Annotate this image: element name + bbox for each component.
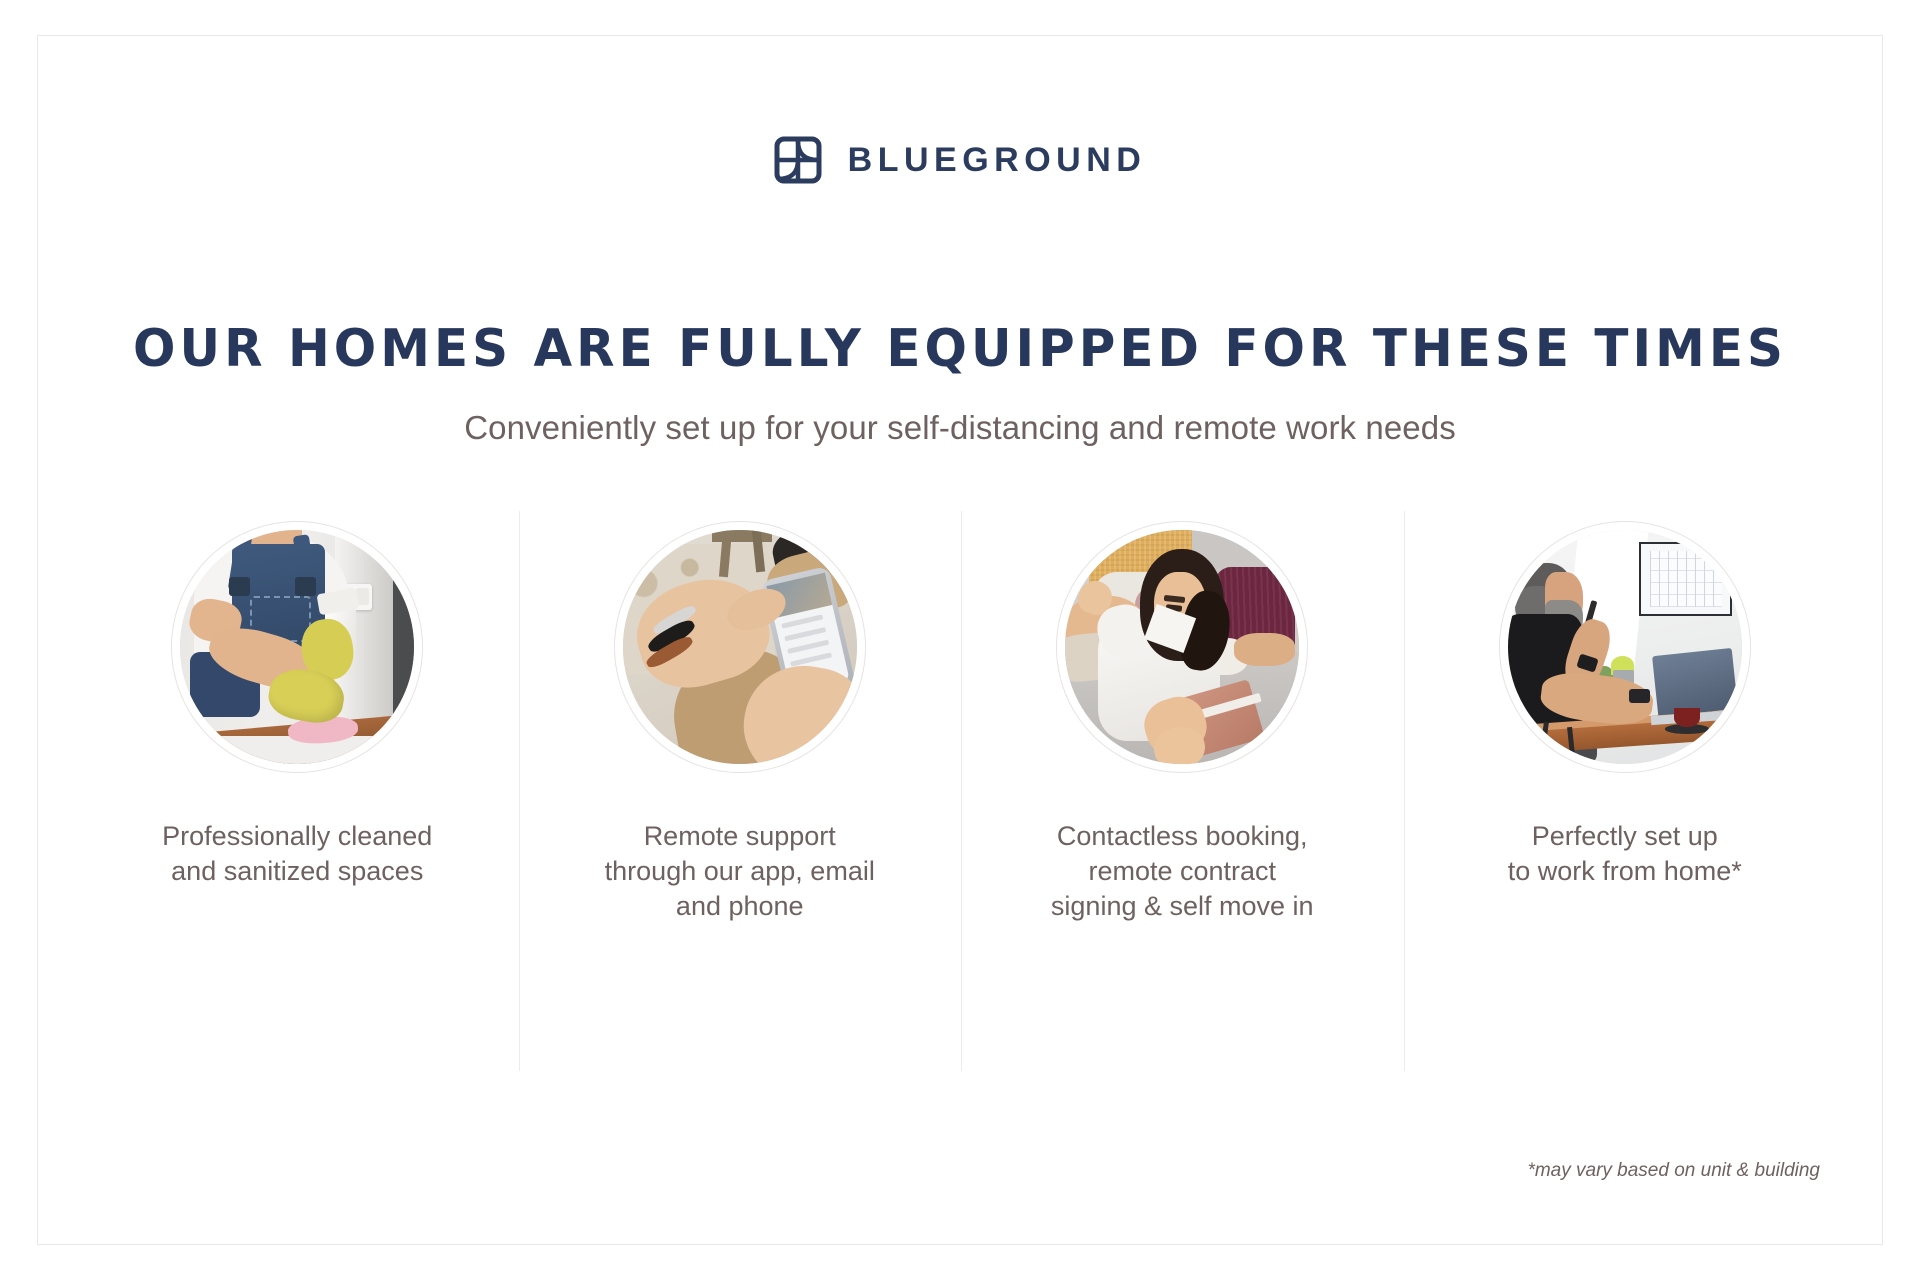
blueground-square-logo-icon bbox=[774, 136, 822, 184]
brand-wordmark: BLUEGROUND bbox=[848, 143, 1147, 177]
photo-ring bbox=[171, 521, 423, 773]
feature-column-cleaning: Professionally cleaned and sanitized spa… bbox=[76, 511, 519, 1071]
feature-column-contactless-booking: Contactless booking, remote contract sig… bbox=[961, 511, 1404, 1071]
page-title: OUR HOMES ARE FULLY EQUIPPED FOR THESE T… bbox=[75, 319, 1845, 379]
feature-caption: Contactless booking, remote contract sig… bbox=[1051, 819, 1314, 923]
feature-columns: Professionally cleaned and sanitized spa… bbox=[76, 511, 1846, 1071]
feature-caption: Professionally cleaned and sanitized spa… bbox=[162, 819, 432, 889]
promo-poster: BLUEGROUND OUR HOMES ARE FULLY EQUIPPED … bbox=[37, 35, 1883, 1245]
feature-column-work-from-home: Perfectly set up to work from home* bbox=[1404, 511, 1847, 1071]
feature-column-remote-support: Remote support through our app, email an… bbox=[519, 511, 962, 1071]
brand-logo: BLUEGROUND bbox=[38, 136, 1882, 184]
photo-ring bbox=[1056, 521, 1308, 773]
photo-ring bbox=[1499, 521, 1751, 773]
work-from-home-photo bbox=[1508, 530, 1742, 764]
page-subtitle: Conveniently set up for your self-distan… bbox=[38, 409, 1882, 447]
remote-support-photo bbox=[623, 530, 857, 764]
feature-caption: Perfectly set up to work from home* bbox=[1508, 819, 1742, 889]
photo-ring bbox=[614, 521, 866, 773]
footnote-disclaimer: *may vary based on unit & building bbox=[1527, 1160, 1820, 1182]
feature-caption: Remote support through our app, email an… bbox=[605, 819, 875, 923]
professional-cleaning-photo bbox=[180, 530, 414, 764]
contactless-booking-photo bbox=[1065, 530, 1299, 764]
